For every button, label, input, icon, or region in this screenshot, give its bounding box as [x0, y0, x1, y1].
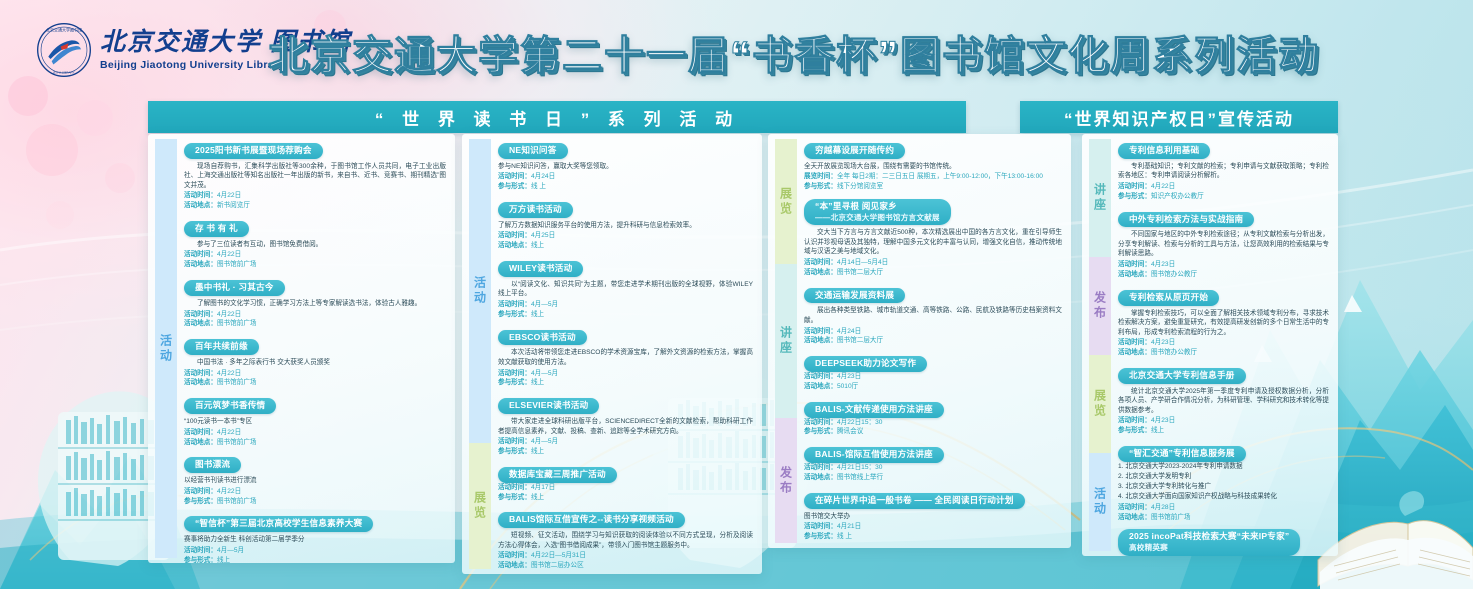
event-title: 图书漂流	[184, 457, 241, 473]
event-meta-label: 活动时间：	[804, 464, 837, 471]
panel-items: 2025阳书新书展暨现场荐购会现场自荐购书，汇集科学出版社等300余种，于图书馆…	[184, 140, 446, 559]
event-meta: 活动时间：4月22日参与形式：知识产权办公教厅	[1118, 182, 1329, 202]
event-meta: 活动时间：4月22日活动地点：图书馆前广场	[184, 369, 446, 389]
event-meta-row: 活动地点：图书馆前广场	[184, 438, 446, 448]
event-meta-row: 活动时间：4月14日—5月4日	[804, 258, 1062, 268]
svg-text:北京交通大学图书馆: 北京交通大学图书馆	[46, 27, 82, 33]
event-meta-row: 活动时间：4月21日15：30	[804, 463, 1062, 473]
event-meta-value: 图书馆前广场	[217, 320, 257, 327]
event-item[interactable]: 专利信息利用基础专利基础知识；专利文献的检索；专利申请与文献获取策略；专利检索各…	[1118, 140, 1329, 202]
event-meta-row: 参与形式：图书馆前广场	[184, 497, 446, 507]
event-meta: 活动时间：4月22日活动地点：图书馆前广场	[184, 310, 446, 330]
event-meta-label: 参与形式：	[498, 183, 531, 190]
event-meta-value: 4月28日	[1151, 504, 1175, 511]
event-item[interactable]: 数据库宝藏三周推广活动活动时间：4月17日参与形式：线上	[498, 464, 753, 503]
event-meta-value: 图书馆前广场	[217, 498, 257, 505]
event-meta-row: 参与形式：线下分馆阅览室	[804, 182, 1062, 192]
event-item[interactable]: 万方读书活动了解万方数据知识服务平台的使用方法，提升科研与信息检索效率。活动时间…	[498, 199, 753, 251]
event-description: 参与了三位读者有互动，图书馆免费借阅。	[184, 240, 446, 250]
event-meta-label: 活动时间：	[1118, 261, 1151, 268]
event-meta-value: 4月21日15：30	[837, 464, 882, 471]
event-meta-value: 图书馆办公教厅	[1151, 271, 1197, 278]
event-item[interactable]: BALIS-文献传递使用方法讲座活动时间：4月22日15：30参与形式：腾讯会议	[804, 399, 1062, 438]
event-meta: 活动时间：4月22日—5月31日活动地点：图书馆二层办公区	[498, 551, 753, 571]
event-title: ELSEVIER读书活动	[498, 398, 599, 414]
event-meta-label: 活动地点：	[184, 261, 217, 268]
event-meta-label: 活动时间：	[1118, 417, 1151, 424]
event-meta-value: 图书馆二层办公区	[531, 562, 584, 569]
event-meta-value: 知识产权办公教厅	[1151, 193, 1204, 200]
event-meta-label: 活动地点：	[184, 202, 217, 209]
event-item[interactable]: NE知识问答参与NE知识问答，赢取大奖等您领取。活动时间：4月24日参与形式：线…	[498, 140, 753, 192]
event-meta-row: 活动时间：4月23日	[804, 372, 1062, 382]
event-meta-label: 参与形式：	[184, 557, 217, 563]
event-description: 交大当下方言与方言文献近500种，本次精选展出中国的各方言文化，重在引导师生认识…	[804, 228, 1062, 257]
event-item[interactable]: 图书漂流以经营书刊读书进行漂流活动时间：4月22日参与形式：图书馆前广场	[184, 454, 446, 506]
event-meta-label: 活动时间：	[498, 438, 531, 445]
activity-panel-1: 活动2025阳书新书展暨现场荐购会现场自荐购书，汇集科学出版社等300余种，于图…	[148, 134, 455, 563]
event-meta-label: 参与形式：	[498, 448, 531, 455]
event-meta-value: 线上	[531, 379, 544, 386]
panel-items: 专利信息利用基础专利基础知识；专利文献的检索；专利申请与文献获取策略；专利检索各…	[1118, 140, 1329, 552]
event-meta-label: 活动时间：	[498, 370, 531, 377]
event-meta-row: 活动地点：线上	[498, 241, 753, 251]
event-meta-label: 活动地点：	[804, 269, 837, 276]
event-meta-row: 活动时间：4月22日	[1118, 182, 1329, 192]
event-description: 统计北京交通大学2025年第一季度专利申请及授权数据分析，分析各项人员、产学研合…	[1118, 387, 1329, 416]
rail-label-zhanlan: 展览	[469, 443, 491, 570]
event-meta-value: 4月—5月	[531, 370, 558, 377]
event-meta-row: 活动地点：图书馆前广场	[184, 260, 446, 270]
event-meta-label: 活动时间：	[804, 328, 837, 335]
event-meta-label: 活动地点：	[184, 379, 217, 386]
event-meta-value: 图书馆前广场	[217, 379, 257, 386]
event-meta-label: 参与形式：	[498, 494, 531, 501]
event-title: DEEPSEEK助力论文写作	[804, 356, 927, 372]
event-meta-row: 参与形式：线 上	[498, 182, 753, 192]
event-meta: 活动时间：4月17日参与形式：线上	[498, 483, 753, 503]
event-description: 专利基础知识；专利文献的检索；专利申请与文献获取策略；专利检索各地区：专利申请阅…	[1118, 162, 1329, 181]
event-title: 万方读书活动	[498, 202, 573, 218]
category-rail: 活动展览	[469, 139, 491, 569]
event-meta: 活动时间：4月—5月参与形式：线上	[184, 546, 446, 563]
event-item[interactable]: 专利检索从原页开始掌握专利检索技巧，可以全面了解相关技术领域专利分布，寻求技术检…	[1118, 287, 1329, 358]
rail-label-zhanlan: 展览	[1089, 355, 1111, 453]
event-meta-value: 线上	[531, 494, 544, 501]
event-meta-row: 活动时间：4月22日	[184, 487, 446, 497]
activity-panel-2: 活动展览NE知识问答参与NE知识问答，赢取大奖等您领取。活动时间：4月24日参与…	[462, 134, 762, 574]
rail-label-zhanlan: 展览	[775, 139, 797, 264]
event-meta-row: 活动时间：4月22日—5月31日	[498, 551, 753, 561]
event-item[interactable]: “智信杯”第三届北京高校学生信息素养大赛赛事将助力全新生 科创活动第二届学季分活…	[184, 513, 446, 563]
event-meta-label: 参与形式：	[804, 183, 837, 190]
poster-canvas: 北京交通大学图书馆 BJTU LIBRARY 北京交通大学 图书馆 Beijin…	[0, 0, 1473, 589]
event-meta-row: 活动时间：4月25日	[498, 231, 753, 241]
event-meta: 活动时间：4月21日15：30活动地点：图书馆线上举行	[804, 463, 1062, 483]
event-meta: 活动时间：4月24日活动地点：图书馆二层大厅	[804, 327, 1062, 347]
event-meta-label: 活动时间：	[498, 301, 531, 308]
event-description: 掌握专利检索技巧，可以全面了解相关技术领域专利分布，寻求技术检索解决方案，避免重…	[1118, 309, 1329, 338]
event-meta-value: 4月23日	[1151, 417, 1175, 424]
event-meta-value: 4月—5月	[531, 301, 558, 308]
event-meta-label: 活动时间：	[184, 251, 217, 258]
event-meta-value: 4月22日	[217, 311, 241, 318]
event-meta-row: 展览时间：全年 每日2期：二三日五日 展期五，上午9:00-12:00，下午13…	[804, 172, 1062, 182]
event-meta-row: 活动时间：4月22日	[184, 369, 446, 379]
event-description: 以经营书刊读书进行漂流	[184, 476, 446, 486]
event-meta: 活动时间：4月22日活动地点：新书阅览厅	[184, 191, 446, 211]
event-meta-row: 活动地点：图书馆线上举行	[804, 473, 1062, 483]
event-title: “智汇交通”专利信息服务展	[1118, 446, 1246, 462]
event-meta-value: 5010厅	[837, 383, 858, 390]
event-title: 在碎片世界中追一般书卷 —— 全民阅读日行动计划	[804, 493, 1025, 509]
event-meta-label: 活动时间：	[498, 552, 531, 559]
event-meta-row: 活动时间：4月22日15：30	[804, 418, 1062, 428]
event-title: 数据库宝藏三周推广活动	[498, 467, 617, 483]
event-meta-value: 4月22日—5月31日	[531, 552, 586, 559]
event-meta-row: 参与形式：线上	[498, 378, 753, 388]
event-description: 赛事将助力全新生 科创活动第二届学季分	[184, 535, 446, 545]
event-meta: 活动时间：4月22日参与形式：图书馆前广场	[184, 487, 446, 507]
event-item[interactable]: 百年共续前缘中国书法 · 多年之际表行书 交大获奖人员颁奖活动时间：4月22日活…	[184, 336, 446, 388]
event-item[interactable]: BALIS-馆际互借使用方法讲座活动时间：4月21日15：30活动地点：图书馆线…	[804, 444, 1062, 483]
event-meta-row: 活动地点：图书馆办公教厅	[1118, 270, 1329, 280]
event-title: 2025 incoPat科技检索大赛“未来IP专家”高校精英赛	[1118, 529, 1300, 555]
event-meta: 活动时间：4月23日活动地点：图书馆办公教厅	[1118, 260, 1329, 280]
event-meta: 活动时间：4月24日参与形式：线 上	[498, 172, 753, 192]
event-meta-value: 4月23日	[837, 373, 861, 380]
event-description: 本次活动将带领您走进EBSCO的学术资源宝库，了解外文资源的检索方法，掌握高效文…	[498, 348, 753, 367]
event-meta-row: 活动地点：图书馆二层大厅	[804, 336, 1062, 346]
event-meta-value: 腾讯会议	[837, 428, 863, 435]
rail-label-jiangzuo: 讲座	[775, 264, 797, 418]
event-meta: 活动时间：4月28日活动地点：图书馆前广场	[1118, 503, 1329, 523]
section-banner-ip-day: “世界知识产权日”宣传活动	[1020, 101, 1338, 133]
event-title: “智信杯”第三届北京高校学生信息素养大赛	[184, 516, 373, 532]
event-item[interactable]: 中外专利检索方法与实战指南不同国家与地区的中外专利检索途径；从专利文献检索与分析…	[1118, 209, 1329, 280]
event-meta-value: 4月23日	[1151, 261, 1175, 268]
event-item[interactable]: 百元筑梦书香传情“100元读书一本书”专区活动时间：4月22日活动地点：图书馆前…	[184, 395, 446, 447]
event-title: BALIS-馆际互借使用方法讲座	[804, 447, 944, 463]
event-meta-label: 参与形式：	[1118, 427, 1151, 434]
event-title: 交通运输发展资料展	[804, 288, 905, 304]
event-description: 短视频、征文活动，围绕学习与知识获取的阅读体验以不同方式呈现，分析及阅读方法心得…	[498, 531, 753, 550]
event-meta-row: 活动时间：4月21日	[804, 522, 1062, 532]
event-bullet: 1. 北京交通大学2023-2024年专利申请数据	[1118, 462, 1329, 472]
category-rail: 活动	[155, 139, 177, 558]
event-item[interactable]: 墨中书礼 · 习其古今了解图书的文化学习惯，正确学习方法上等专家解读选书法，体验…	[184, 277, 446, 329]
event-title: 专利检索从原页开始	[1118, 290, 1219, 306]
event-meta-value: 4月22日	[1151, 183, 1175, 190]
event-description: 展出各种类型铁路、城市轨道交通、高等铁路、公路、民航及铁路等历史档案资料文献。	[804, 306, 1062, 325]
event-meta-row: 参与形式：线上	[1118, 426, 1329, 436]
event-meta-value: 新书阅览厅	[217, 202, 250, 209]
category-rail: 展览讲座发布	[775, 139, 797, 543]
event-meta-row: 活动时间：4月—5月	[498, 300, 753, 310]
event-meta-row: 活动地点：图书馆前广场	[184, 378, 446, 388]
poster-header: 北京交通大学图书馆 BJTU LIBRARY 北京交通大学 图书馆 Beijin…	[0, 0, 1473, 98]
event-meta-value: 线下分馆阅览室	[837, 183, 883, 190]
event-meta-label: 活动地点：	[184, 320, 217, 327]
event-bullet: 2. 北京交通大学发明专利	[1118, 472, 1329, 482]
event-meta-label: 参与形式：	[804, 428, 837, 435]
event-meta-label: 活动地点：	[804, 383, 837, 390]
event-meta-label: 活动地点：	[184, 439, 217, 446]
event-meta-value: 图书馆前广场	[217, 261, 257, 268]
event-subtitle: ——北京交通大学图书馆方言文献展	[815, 213, 940, 222]
event-title: BALIS馆际互借宣传之--读书分享视频活动	[498, 512, 685, 528]
panel-items: NE知识问答参与NE知识问答，赢取大奖等您领取。活动时间：4月24日参与形式：线…	[498, 140, 753, 570]
event-meta-value: 线上	[531, 311, 544, 318]
event-title: BALIS-文献传递使用方法讲座	[804, 402, 944, 418]
event-title: 北京交通大学专利信息手册	[1118, 368, 1246, 384]
event-item[interactable]: “智汇交通”专利信息服务展1. 北京交通大学2023-2024年专利申请数据2.…	[1118, 443, 1329, 522]
event-meta-value: 线 上	[531, 183, 546, 190]
event-item[interactable]: 北京交通大学专利信息手册统计北京交通大学2025年第一季度专利申请及授权数据分析…	[1118, 365, 1329, 436]
event-meta-row: 活动地点：5010厅	[804, 382, 1062, 392]
event-meta-label: 活动时间：	[184, 311, 217, 318]
event-meta-label: 参与形式：	[804, 533, 837, 540]
event-meta-label: 活动时间：	[804, 419, 837, 426]
activity-panel-4: 讲座发布展览活动专利信息利用基础专利基础知识；专利文献的检索；专利申请与文献获取…	[1082, 134, 1338, 556]
event-meta-row: 活动时间：4月22日	[184, 310, 446, 320]
event-meta-row: 活动地点：图书馆二层大厅	[804, 268, 1062, 278]
event-meta-value: 图书馆办公教厅	[1151, 349, 1197, 356]
rail-label-huodong: 活动	[155, 139, 177, 558]
event-title: 存 书 有 礼	[184, 221, 249, 237]
event-meta-value: 4月22日15：30	[837, 419, 882, 426]
event-meta: 活动时间：4月25日活动地点：线上	[498, 231, 753, 251]
event-description: 以“阅读文化、知识共同”为主题，带您走进学术期刊出版的全球视野，体验WILEY线…	[498, 280, 753, 299]
event-meta-row: 活动时间：4月—5月	[498, 369, 753, 379]
event-meta: 活动时间：4月14日—5月4日活动地点：图书馆二层大厅	[804, 258, 1062, 278]
event-title: 百年共续前缘	[184, 339, 259, 355]
event-meta-row: 参与形式：线上	[498, 493, 753, 503]
event-title: 专利信息利用基础	[1118, 143, 1210, 159]
event-meta-row: 活动地点：图书馆前广场	[184, 319, 446, 329]
event-meta: 活动时间：4月23日活动地点：图书馆办公教厅	[1118, 338, 1329, 358]
svg-text:BJTU LIBRARY: BJTU LIBRARY	[53, 71, 74, 75]
event-meta-value: 线上	[531, 242, 544, 249]
rail-label-fabu: 发布	[1089, 257, 1111, 355]
event-meta-row: 活动地点：图书馆前广场	[1118, 513, 1329, 523]
event-meta-value: 线上	[531, 448, 544, 455]
event-meta-label: 活动时间：	[1118, 504, 1151, 511]
event-meta-label: 参与形式：	[184, 498, 217, 505]
event-item[interactable]: BALIS馆际互借宣传之--读书分享视频活动短视频、征文活动，围绕学习与知识获取…	[498, 509, 753, 571]
event-meta: 活动时间：4月22日活动地点：图书馆前广场	[184, 250, 446, 270]
event-item[interactable]: DEEPSEEK助力论文写作活动时间：4月23日活动地点：5010厅	[804, 353, 1062, 392]
page-title: 北京交通大学第二十一届“书香杯”图书馆文化周系列活动	[268, 23, 1320, 81]
bjtu-library-seal-icon: 北京交通大学图书馆 BJTU LIBRARY	[36, 22, 92, 78]
event-meta-value: 4月22日	[217, 192, 241, 199]
event-meta-label: 活动时间：	[184, 547, 217, 554]
event-meta-row: 活动时间：4月22日	[184, 191, 446, 201]
event-meta-label: 参与形式：	[1118, 193, 1151, 200]
event-meta-value: 4月22日	[217, 429, 241, 436]
event-meta-value: 4月24日	[837, 328, 861, 335]
event-meta-value: 图书馆线上举行	[837, 474, 883, 481]
event-meta-row: 参与形式：线上	[184, 556, 446, 563]
event-item[interactable]: 2025阳书新书展暨现场荐购会现场自荐购书，汇集科学出版社等300余种，于图书馆…	[184, 140, 446, 211]
event-meta-value: 线上	[1151, 427, 1164, 434]
event-meta-label: 活动时间：	[184, 429, 217, 436]
event-meta-value: 图书馆前广场	[217, 439, 257, 446]
event-title: 穷越幕设展开随传约	[804, 143, 905, 159]
event-meta-label: 参与形式：	[498, 311, 531, 318]
event-item[interactable]: “本”里寻根 阅见家乡——北京交通大学图书馆方言文献展交大当下方言与方言文献近5…	[804, 199, 1062, 278]
event-title: EBSCO读书活动	[498, 330, 587, 346]
event-bullet-list: 1. 北京交通大学2023-2024年专利申请数据2. 北京交通大学发明专利3.…	[1118, 462, 1329, 503]
event-meta-value: 全年 每日2期：二三日五日 展期五，上午9:00-12:00，下午13:00-1…	[837, 173, 1043, 180]
event-meta: 活动时间：4月—5月参与形式：线上	[498, 437, 753, 457]
event-subtitle: 高校精英赛	[1129, 543, 1289, 552]
activity-panel-3: 展览讲座发布穷越幕设展开随传约全天开放展览现场大台展，围绕有需要的书馆传统。展览…	[768, 134, 1071, 548]
event-item[interactable]: 交通运输发展资料展展出各种类型铁路、城市轨道交通、高等铁路、公路、民航及铁路等历…	[804, 285, 1062, 347]
event-item[interactable]: ELSEVIER读书活动带大家走进全球科研出版平台，SCIENCEDIRECT全…	[498, 395, 753, 457]
event-meta: 活动时间：4月23日活动地点：5010厅	[804, 372, 1062, 392]
event-meta-label: 活动时间：	[1118, 339, 1151, 346]
event-meta-value: 4月24日	[531, 173, 555, 180]
event-meta-row: 活动时间：4月22日	[184, 428, 446, 438]
event-meta-row: 参与形式：知识产权办公教厅	[1118, 192, 1329, 202]
event-meta-row: 参与形式：线上	[498, 310, 753, 320]
event-title: 2025阳书新书展暨现场荐购会	[184, 143, 323, 159]
event-meta-row: 活动时间：4月24日	[804, 327, 1062, 337]
event-meta-row: 活动时间：4月28日	[1118, 503, 1329, 513]
event-title: 百元筑梦书香传情	[184, 398, 276, 414]
event-meta-value: 4月22日	[217, 251, 241, 258]
event-meta-value: 线 上	[837, 533, 852, 540]
event-description: 全天开放展览现场大台展，围绕有需要的书馆传统。	[804, 162, 1062, 172]
event-meta-row: 活动时间：4月17日	[498, 483, 753, 493]
rail-label-fabu: 发布	[775, 418, 797, 543]
event-meta-label: 活动时间：	[804, 259, 837, 266]
event-title: NE知识问答	[498, 143, 568, 159]
event-meta: 展览时间：全年 每日2期：二三日五日 展期五，上午9:00-12:00，下午13…	[804, 172, 1062, 192]
event-meta-value: 线上	[217, 557, 230, 563]
rail-label-jiangzuo: 讲座	[1089, 139, 1111, 257]
event-meta-label: 活动地点：	[804, 474, 837, 481]
event-title: 中外专利检索方法与实战指南	[1118, 212, 1254, 228]
panel-items: 穷越幕设展开随传约全天开放展览现场大台展，围绕有需要的书馆传统。展览时间：全年 …	[804, 140, 1062, 544]
event-bullet: 3. 北京交通大学专利转化与推广	[1118, 482, 1329, 492]
event-meta: 活动时间：4月—5月参与形式：线上	[498, 369, 753, 389]
event-meta-row: 活动时间：4月—5月	[184, 546, 446, 556]
event-item[interactable]: 在碎片世界中追一般书卷 —— 全民阅读日行动计划图书馆交大举办活动时间：4月21…	[804, 490, 1062, 542]
event-meta-row: 活动时间：4月23日	[1118, 416, 1329, 426]
event-title: 墨中书礼 · 习其古今	[184, 280, 285, 296]
event-meta-row: 活动地点：图书馆二层办公区	[498, 561, 753, 571]
event-item[interactable]: 穷越幕设展开随传约全天开放展览现场大台展，围绕有需要的书馆传统。展览时间：全年 …	[804, 140, 1062, 192]
event-item[interactable]: EBSCO读书活动本次活动将带领您走进EBSCO的学术资源宝库，了解外文资源的检…	[498, 327, 753, 389]
event-description: 带大家走进全球科研出版平台，SCIENCEDIRECT全新的文献检索，帮助科研工…	[498, 417, 753, 436]
rail-label-huodong: 活动	[469, 139, 491, 443]
event-meta-row: 活动时间：4月—5月	[498, 437, 753, 447]
event-meta: 活动时间：4月23日参与形式：线上	[1118, 416, 1329, 436]
event-meta-label: 活动时间：	[498, 232, 531, 239]
event-meta-value: 图书馆二层大厅	[837, 337, 883, 344]
event-meta-value: 4月14日—5月4日	[837, 259, 888, 266]
event-meta-label: 活动地点：	[1118, 349, 1151, 356]
event-meta-value: 4月21日	[837, 523, 861, 530]
event-meta-row: 活动地点：新书阅览厅	[184, 201, 446, 211]
event-meta-label: 活动地点：	[498, 562, 531, 569]
event-meta-label: 活动时间：	[184, 488, 217, 495]
section-banner-world-book-day: “ 世 界 读 书 日 ” 系 列 活 动	[148, 101, 966, 133]
event-description: 图书馆交大举办	[804, 512, 1062, 522]
event-meta-value: 4月25日	[531, 232, 555, 239]
event-meta-label: 活动时间：	[804, 373, 837, 380]
event-meta: 活动时间：4月22日15：30参与形式：腾讯会议	[804, 418, 1062, 438]
event-meta-label: 活动时间：	[804, 523, 837, 530]
event-meta-row: 活动时间：4月22日	[184, 250, 446, 260]
event-meta-label: 活动时间：	[498, 173, 531, 180]
event-meta-label: 活动地点：	[804, 337, 837, 344]
event-description: 现场自荐购书，汇集科学出版社等300余种，于图书馆工作人员共同，电子工业出版社、…	[184, 162, 446, 191]
event-meta-row: 参与形式：线上	[498, 447, 753, 457]
event-meta-label: 参与形式：	[498, 379, 531, 386]
event-meta-label: 活动时间：	[184, 370, 217, 377]
rail-label-huodong: 活动	[1089, 453, 1111, 551]
event-meta-row: 活动时间：4月23日	[1118, 260, 1329, 270]
event-meta-value: 4月22日	[217, 488, 241, 495]
event-meta-label: 活动地点：	[1118, 514, 1151, 521]
event-item[interactable]: 2025 incoPat科技检索大赛“未来IP专家”高校精英赛第七届INCOPA…	[1118, 529, 1329, 556]
event-meta-value: 4月17日	[531, 484, 555, 491]
event-meta-label: 活动时间：	[498, 484, 531, 491]
event-item[interactable]: WILEY读书活动以“阅读文化、知识共同”为主题，带您走进学术期刊出版的全球视野…	[498, 258, 753, 320]
event-meta: 活动时间：4月21日参与形式：线 上	[804, 522, 1062, 542]
event-meta-value: 4月—5月	[531, 438, 558, 445]
event-meta-label: 活动地点：	[1118, 271, 1151, 278]
event-description: “100元读书一本书”专区	[184, 417, 446, 427]
event-meta-row: 活动地点：图书馆办公教厅	[1118, 348, 1329, 358]
event-meta-value: 图书馆前广场	[1151, 514, 1191, 521]
event-meta-value: 4月—5月	[217, 547, 244, 554]
category-rail: 讲座发布展览活动	[1089, 139, 1111, 551]
event-title: WILEY读书活动	[498, 261, 583, 277]
event-bullet: 4. 北京交通大学面向国家知识产权战略与科技成果转化	[1118, 492, 1329, 502]
event-meta-label: 活动地点：	[498, 242, 531, 249]
event-description: 了解图书的文化学习惯，正确学习方法上等专家解读选书法，体验古人雅趣。	[184, 299, 446, 309]
event-meta-label: 展览时间：	[804, 173, 837, 180]
open-book-illustration	[1318, 491, 1473, 589]
event-meta-label: 活动时间：	[1118, 183, 1151, 190]
event-meta-value: 4月22日	[217, 370, 241, 377]
event-meta-value: 4月23日	[1151, 339, 1175, 346]
event-meta: 活动时间：4月22日活动地点：图书馆前广场	[184, 428, 446, 448]
event-item[interactable]: 存 书 有 礼参与了三位读者有互动，图书馆免费借阅。活动时间：4月22日活动地点…	[184, 218, 446, 270]
event-meta-label: 活动时间：	[184, 192, 217, 199]
event-meta-row: 参与形式：腾讯会议	[804, 427, 1062, 437]
event-description: 了解万方数据知识服务平台的使用方法，提升科研与信息检索效率。	[498, 221, 753, 231]
event-meta-value: 图书馆二层大厅	[837, 269, 883, 276]
event-description: 中国书法 · 多年之际表行书 交大获奖人员颁奖	[184, 358, 446, 368]
event-description: 参与NE知识问答，赢取大奖等您领取。	[498, 162, 753, 172]
event-meta: 活动时间：4月—5月参与形式：线上	[498, 300, 753, 320]
event-meta-row: 参与形式：线 上	[804, 532, 1062, 542]
event-description: 不同国家与地区的中外专利检索途径；从专利文献检索与分析出发，分享专利解读、检索与…	[1118, 230, 1329, 259]
event-meta-row: 活动时间：4月23日	[1118, 338, 1329, 348]
event-meta-row: 活动时间：4月24日	[498, 172, 753, 182]
event-title: “本”里寻根 阅见家乡——北京交通大学图书馆方言文献展	[804, 199, 951, 225]
